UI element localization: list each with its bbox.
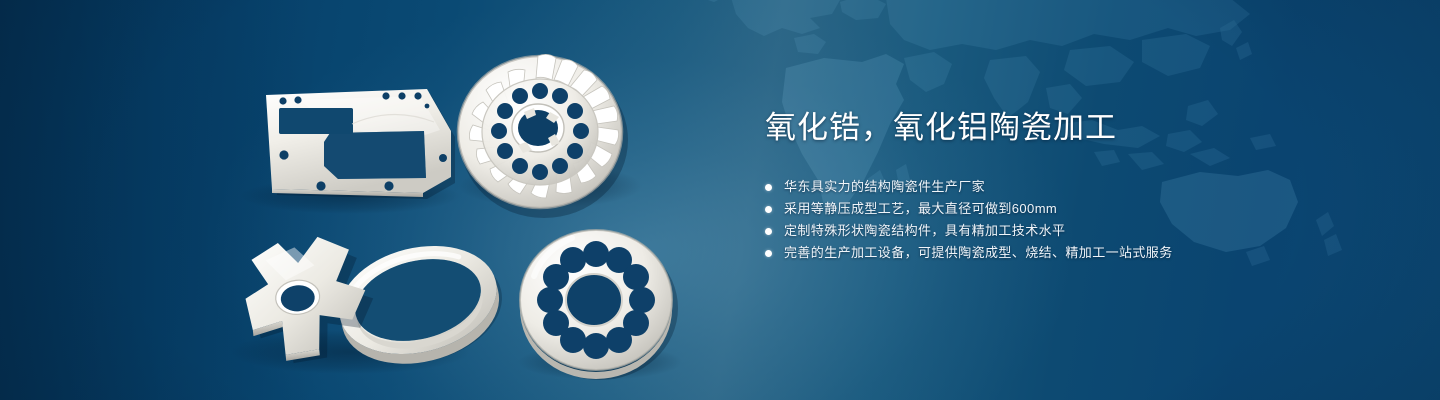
- list-item-label: 完善的生产加工设备，可提供陶瓷成型、烧结、精加工一站式服务: [784, 242, 1173, 264]
- ceramic-impeller: [458, 54, 628, 218]
- page-title: 氧化锆，氧化铝陶瓷加工: [765, 108, 1325, 148]
- list-item: 采用等静压成型工艺，最大直径可做到600mm: [765, 198, 1325, 220]
- list-item: 完善的生产加工设备，可提供陶瓷成型、烧结、精加工一站式服务: [765, 242, 1325, 264]
- feature-list: 华东具实力的结构陶瓷件生产厂家 采用等静压成型工艺，最大直径可做到600mm 定…: [765, 176, 1325, 264]
- bullet-dot-icon: [765, 250, 772, 257]
- list-item: 定制特殊形状陶瓷结构件，具有精加工技术水平: [765, 220, 1325, 242]
- bullet-dot-icon: [765, 228, 772, 235]
- marketing-copy: 氧化锆，氧化铝陶瓷加工 华东具实力的结构陶瓷件生产厂家 采用等静压成型工艺，最大…: [765, 108, 1325, 264]
- list-item: 华东具实力的结构陶瓷件生产厂家: [765, 176, 1325, 198]
- list-item-label: 华东具实力的结构陶瓷件生产厂家: [784, 176, 985, 198]
- promo-banner: 氧化锆，氧化铝陶瓷加工 华东具实力的结构陶瓷件生产厂家 采用等静压成型工艺，最大…: [0, 0, 1440, 400]
- ceramic-mounting-plate: [266, 89, 455, 199]
- ceramic-perforated-disc: [520, 230, 678, 380]
- bullet-dot-icon: [765, 206, 772, 213]
- ceramic-products-group: [0, 0, 760, 400]
- bullet-dot-icon: [765, 184, 772, 191]
- list-item-label: 采用等静压成型工艺，最大直径可做到600mm: [784, 198, 1057, 220]
- list-item-label: 定制特殊形状陶瓷结构件，具有精加工技术水平: [784, 220, 1065, 242]
